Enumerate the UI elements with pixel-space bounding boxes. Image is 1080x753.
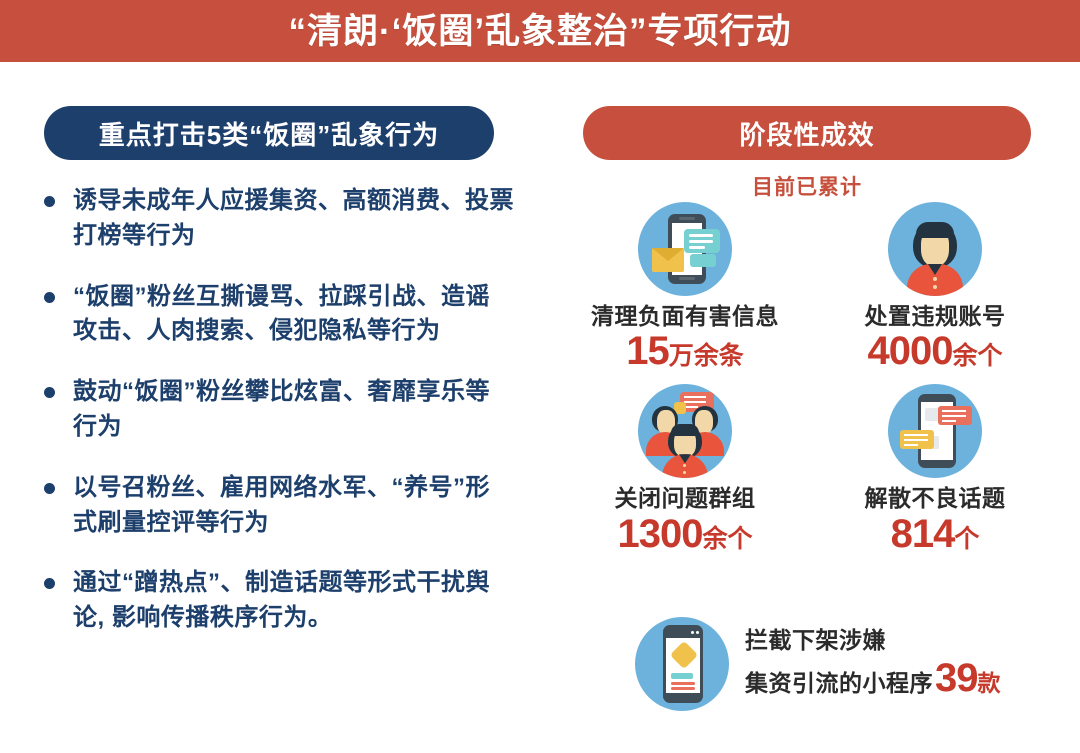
stat-card-harmful-info: 清理负面有害信息 15万余条	[560, 202, 810, 372]
stat-value: 814个	[891, 513, 980, 555]
stat-label-line2-row: 集资引流的小程序39款	[745, 654, 1001, 703]
stat-card-mini-programs: 拦截下架涉嫌 集资引流的小程序39款	[635, 617, 1065, 711]
bullet-dot-icon	[44, 483, 55, 494]
bullet-dot-icon	[44, 196, 55, 207]
stat-label: 解散不良话题	[865, 486, 1006, 511]
stat-card-illegal-accounts: 处置违规账号 4000余个	[810, 202, 1060, 372]
stat-label: 清理负面有害信息	[591, 304, 779, 329]
left-panel-heading-pill: 重点打击5类“饭圈”乱象行为	[44, 106, 494, 160]
right-panel-heading-pill: 阶段性成效	[583, 106, 1031, 160]
list-item-label: 通过“蹭热点”、制造话题等形式干扰舆论, 影响传播秩序行为。	[73, 566, 514, 636]
right-panel-subtitle: 目前已累计	[583, 171, 1031, 201]
phone-envelope-message-icon	[638, 202, 732, 296]
phone-mini-program-cube-icon	[635, 617, 729, 711]
list-item-label: 鼓动“饭圈”粉丝攀比炫富、奢靡享乐等行为	[73, 375, 514, 445]
stat-row: 关闭问题群组 1300余个	[560, 384, 1060, 566]
stat-unit: 万余条	[669, 342, 744, 370]
stat-value: 15万余条	[626, 330, 744, 372]
stat-label: 处置违规账号	[865, 304, 1006, 329]
stat-wide-text: 拦截下架涉嫌 集资引流的小程序39款	[745, 626, 1001, 703]
stat-unit: 个	[954, 525, 979, 553]
list-item-label: 诱导未成年人应援集资、高额消费、投票打榜等行为	[73, 184, 514, 254]
group-chat-people-icon	[638, 384, 732, 478]
statistics-grid: 清理负面有害信息 15万余条 处置违规账号	[560, 202, 1060, 567]
stat-label-line2: 集资引流的小程序	[745, 669, 933, 697]
stat-value: 1300余个	[618, 513, 753, 555]
right-panel-heading-label: 阶段性成效	[739, 115, 874, 152]
phone-chat-bubbles-icon	[888, 384, 982, 478]
stat-number: 814	[891, 512, 955, 556]
stat-number: 1300	[618, 512, 703, 556]
stat-value: 4000余个	[868, 330, 1003, 372]
stat-unit: 余个	[952, 342, 1002, 370]
infographic-page: “清朗·‘饭圈’乱象整治”专项行动 重点打击5类“饭圈”乱象行为 诱导未成年人应…	[0, 0, 1080, 753]
stat-row: 清理负面有害信息 15万余条 处置违规账号	[560, 202, 1060, 384]
left-panel: 重点打击5类“饭圈”乱象行为 诱导未成年人应援集资、高额消费、投票打榜等行为 “…	[0, 62, 540, 753]
stat-unit: 余个	[702, 525, 752, 553]
list-item-label: 以号召粉丝、雇用网络水军、“养号”形式刷量控评等行为	[73, 471, 514, 541]
bullet-dot-icon	[44, 292, 55, 303]
stat-number: 39	[935, 654, 978, 703]
bullet-dot-icon	[44, 578, 55, 589]
left-panel-heading-label: 重点打击5类“饭圈”乱象行为	[99, 115, 439, 152]
list-item: 通过“蹭热点”、制造话题等形式干扰舆论, 影响传播秩序行为。	[44, 566, 514, 636]
right-panel: 阶段性成效 目前已累计	[540, 62, 1080, 753]
list-item: 鼓动“饭圈”粉丝攀比炫富、奢靡享乐等行为	[44, 375, 514, 445]
bullet-dot-icon	[44, 387, 55, 398]
list-item: 以号召粉丝、雇用网络水军、“养号”形式刷量控评等行为	[44, 471, 514, 541]
stat-unit: 款	[978, 669, 1002, 697]
violation-types-list: 诱导未成年人应援集资、高额消费、投票打榜等行为 “饭圈”粉丝互撕谩骂、拉踩引战、…	[44, 184, 514, 662]
stat-number: 15	[626, 329, 669, 373]
stat-card-bad-topics: 解散不良话题 814个	[810, 384, 1060, 554]
list-item: 诱导未成年人应援集资、高额消费、投票打榜等行为	[44, 184, 514, 254]
stat-label-line1: 拦截下架涉嫌	[745, 626, 1001, 654]
page-title: “清朗·‘饭圈’乱象整治”专项行动	[288, 14, 791, 49]
list-item: “饭圈”粉丝互撕谩骂、拉踩引战、造谣攻击、人肉搜索、侵犯隐私等行为	[44, 280, 514, 350]
stat-card-problem-groups: 关闭问题群组 1300余个	[560, 384, 810, 554]
stat-label: 关闭问题群组	[615, 486, 756, 511]
header-banner: “清朗·‘饭圈’乱象整治”专项行动	[0, 0, 1080, 62]
person-avatar-icon	[888, 202, 982, 296]
list-item-label: “饭圈”粉丝互撕谩骂、拉踩引战、造谣攻击、人肉搜索、侵犯隐私等行为	[73, 280, 514, 350]
stat-number: 4000	[868, 329, 953, 373]
